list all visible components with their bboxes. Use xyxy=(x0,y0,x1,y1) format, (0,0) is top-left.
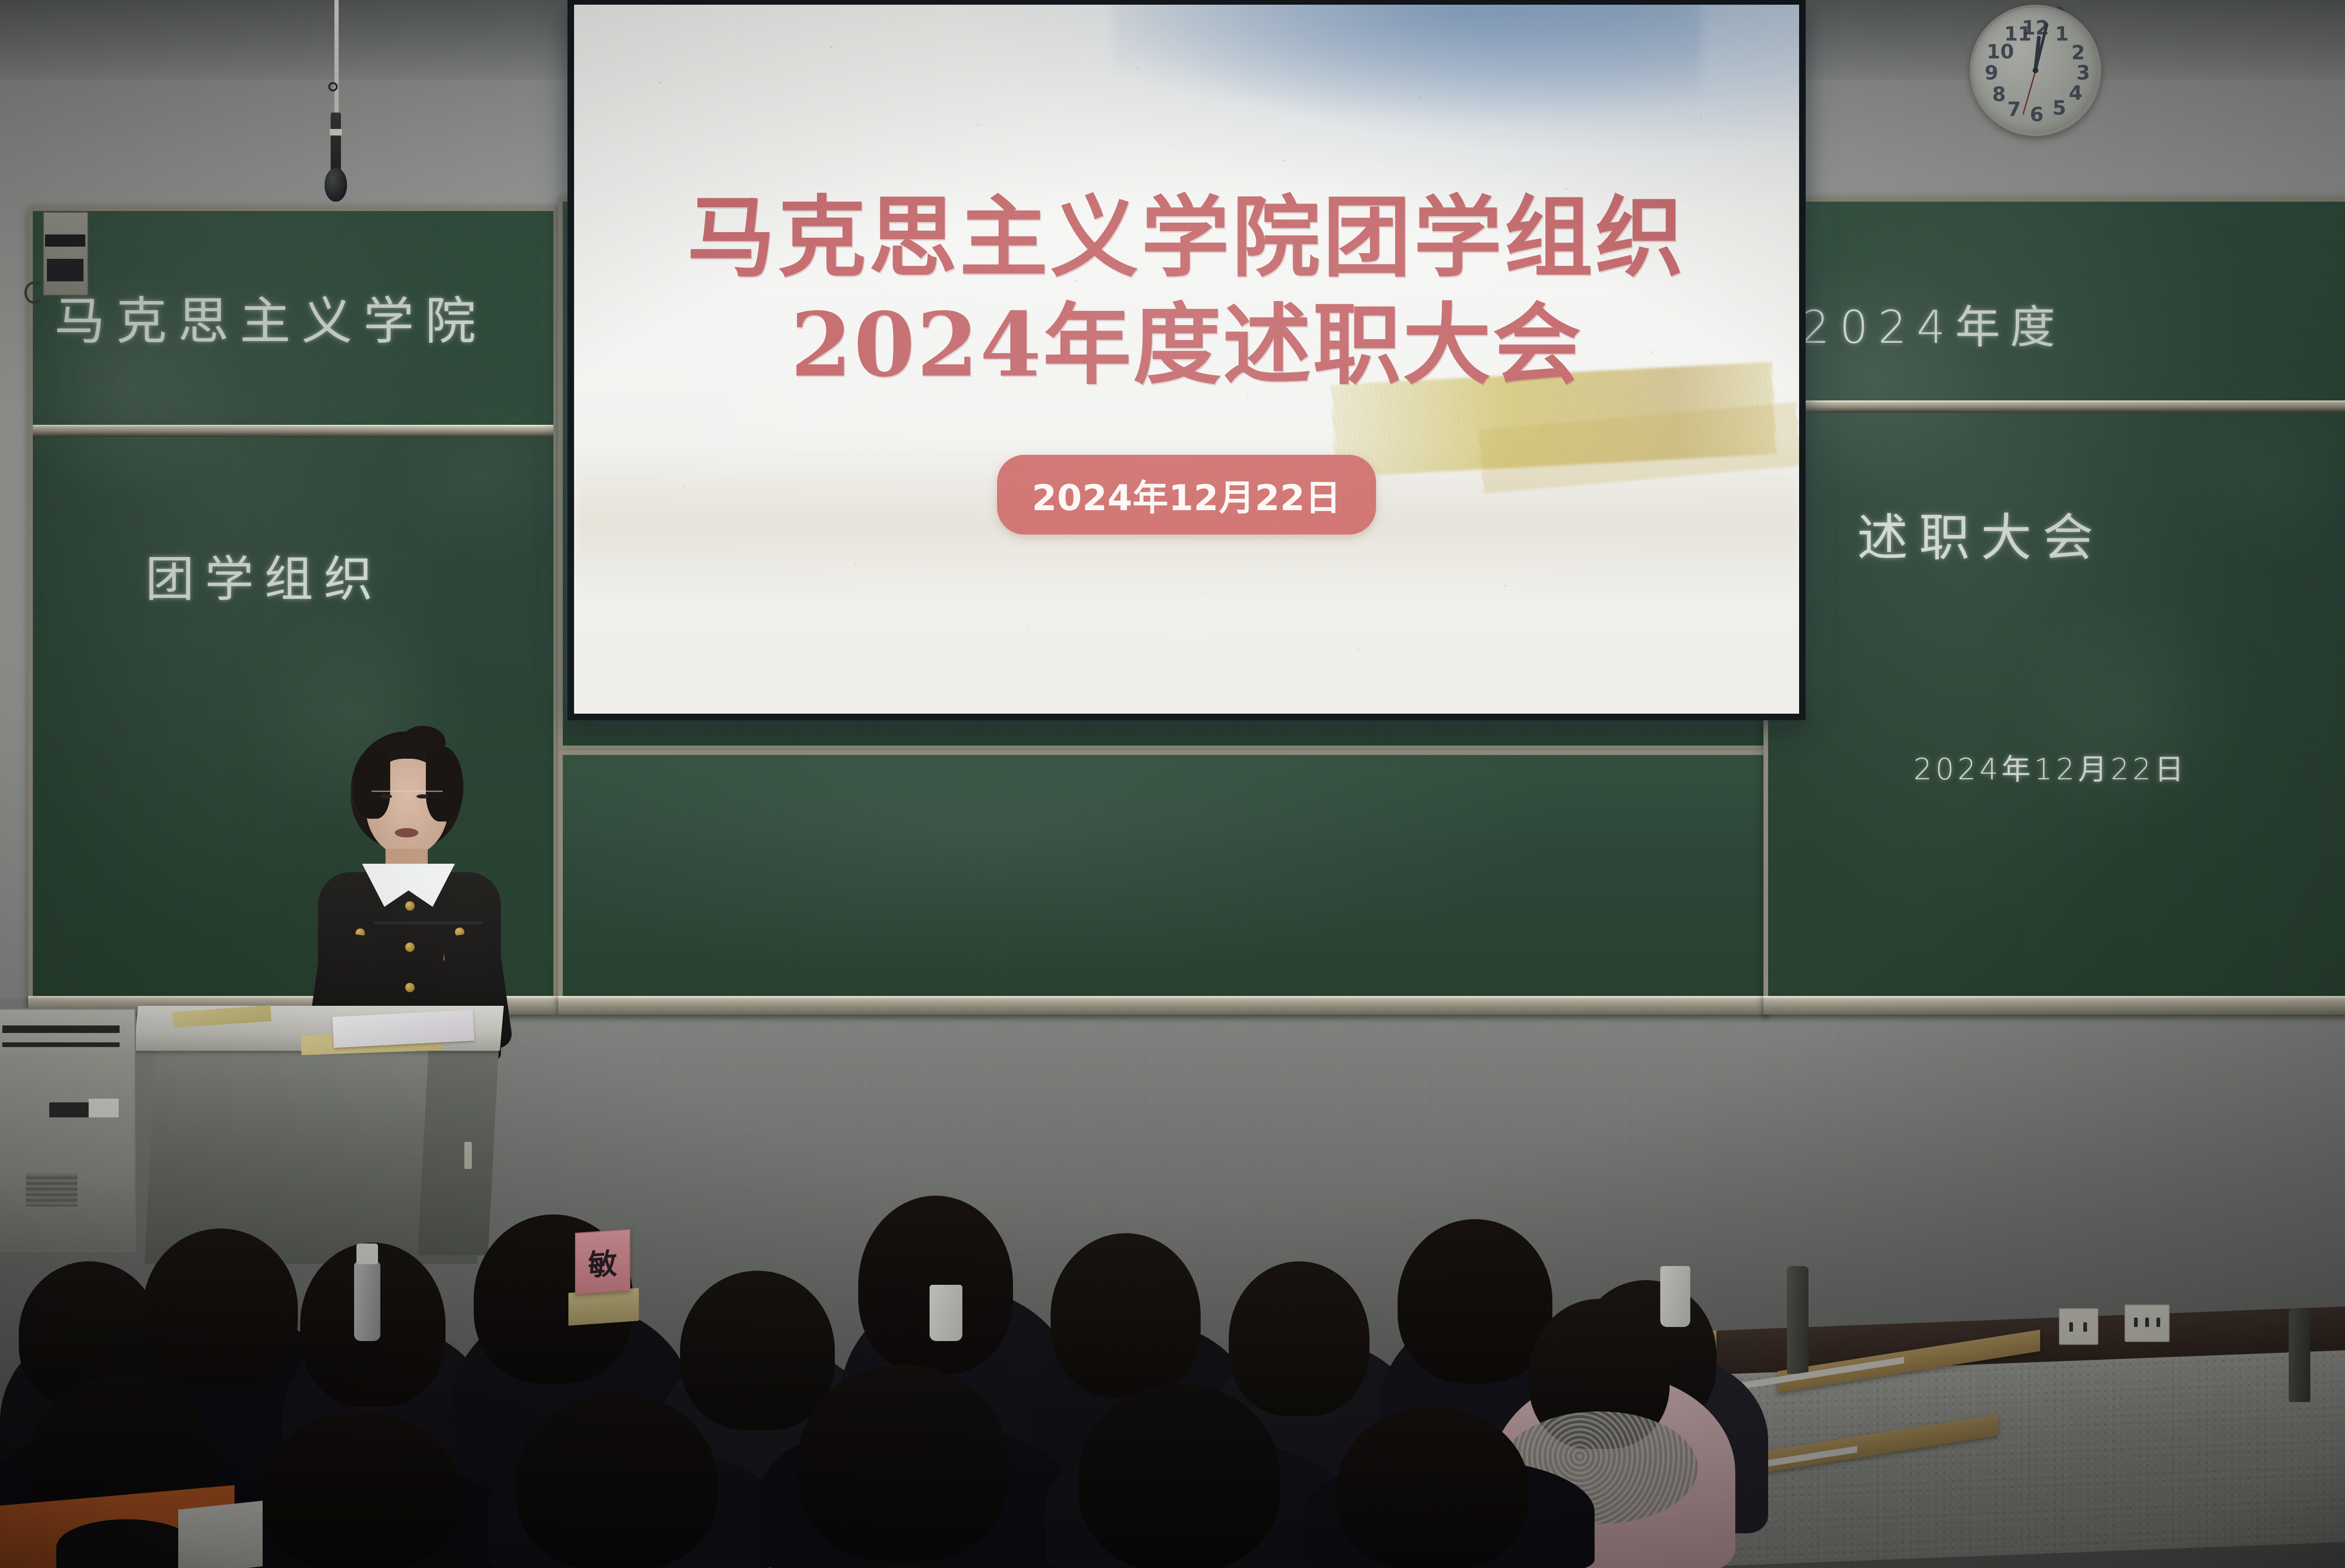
chalkboard-divider xyxy=(1768,400,2345,413)
audience-member-head xyxy=(680,1271,835,1430)
audience-member-head xyxy=(516,1393,718,1568)
name-card: 敏 xyxy=(575,1229,630,1295)
speaker-eye-left xyxy=(380,794,392,799)
wall-switch-panel[interactable] xyxy=(43,212,88,295)
chalk-text-right-2: 述职大会 xyxy=(1857,497,2104,570)
audience-member-head xyxy=(263,1411,460,1568)
projected-slide: 马克思主义学院团学组织 2024年度述职大会 2024年12月22日 xyxy=(574,5,1799,714)
audience-seating xyxy=(0,999,2345,1568)
chalk-text-left-1: 马克思主义学院 xyxy=(54,280,487,354)
jacket-button xyxy=(405,901,415,911)
switch-strip-upper[interactable] xyxy=(45,234,85,247)
microphone-clip xyxy=(328,82,338,91)
jacket-button xyxy=(405,942,415,952)
clock-numeral: 3 xyxy=(2076,61,2090,84)
audience-member-head xyxy=(1051,1233,1201,1397)
wall-clock: 12 1 2 3 4 5 6 7 8 9 10 11 xyxy=(1970,5,2101,136)
clock-numeral: 6 xyxy=(2030,103,2043,126)
clock-numeral: 8 xyxy=(1992,83,2006,106)
speaker-mouth xyxy=(395,828,418,837)
microphone-icon xyxy=(325,168,347,202)
speaker-hair-left xyxy=(353,748,390,819)
water-bottle xyxy=(354,1261,380,1341)
microphone-body xyxy=(331,113,341,173)
slide-title-line-1: 马克思主义学院团学组织 xyxy=(687,186,1686,289)
slide-title-line-2: 2024年度述职大会 xyxy=(791,293,1583,397)
jacket-button xyxy=(405,983,415,992)
clock-numeral: 11 xyxy=(2004,23,2031,45)
paper-sheet xyxy=(178,1501,263,1568)
clock-numeral: 7 xyxy=(2007,98,2021,121)
chalkboard-surface xyxy=(563,755,1763,999)
audience-member-head xyxy=(1398,1219,1552,1383)
paper-cup xyxy=(1660,1266,1690,1327)
speaker-eye-right xyxy=(416,794,429,799)
clock-numeral: 2 xyxy=(2071,41,2085,64)
classroom-photo: 马克思主义学院 团学组织 2024年度 述职大会 2024年12月22日 xyxy=(0,0,2345,1568)
microphone-cable xyxy=(334,0,339,113)
name-card-text: 敏 xyxy=(588,1240,617,1284)
paper-cup xyxy=(930,1285,962,1341)
audience-member-head xyxy=(797,1364,1008,1561)
jacket-pocket-seam xyxy=(374,921,482,924)
speaker-hair-right xyxy=(426,746,463,822)
projection-screen: 马克思主义学院团学组织 2024年度述职大会 2024年12月22日 xyxy=(567,0,1806,720)
clock-center-pin xyxy=(2033,68,2038,73)
chalk-text-right-3: 2024年12月22日 xyxy=(1914,746,2187,788)
audience-member-head xyxy=(1229,1261,1369,1416)
clock-numeral: 5 xyxy=(2052,97,2066,120)
clock-numeral: 9 xyxy=(1985,61,1998,84)
audience-member-head xyxy=(143,1229,298,1388)
chalk-text-right-1: 2024年度 xyxy=(1801,291,2065,356)
cable-loop xyxy=(24,281,44,304)
clock-numeral: 4 xyxy=(2069,82,2082,105)
chalkboard-divider xyxy=(33,425,553,437)
audience-member-head xyxy=(1337,1407,1529,1568)
switch-strip-lower[interactable] xyxy=(47,259,83,281)
microphone-band xyxy=(330,129,342,136)
chalk-text-left-2: 团学组织 xyxy=(145,539,384,610)
clock-numeral: 1 xyxy=(2055,23,2069,45)
slide-content: 马克思主义学院团学组织 2024年度述职大会 2024年12月22日 xyxy=(574,5,1799,714)
chalkboard-right: 2024年度 述职大会 2024年12月22日 xyxy=(1763,197,2345,1003)
chalkboard-center-bottom xyxy=(558,750,1768,1003)
slide-title: 马克思主义学院团学组织 2024年度述职大会 xyxy=(687,184,1686,399)
audience-member-head xyxy=(1079,1383,1280,1568)
water-bottle-cap xyxy=(356,1244,378,1264)
slide-date-badge: 2024年12月22日 xyxy=(997,455,1376,535)
